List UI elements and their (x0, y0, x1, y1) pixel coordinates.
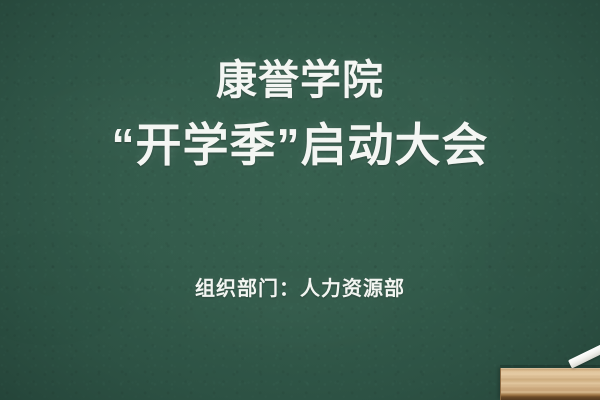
title-line-primary: 康誉学院 (0, 60, 600, 101)
presentation-slide: 康誉学院 “开学季”启动大会 组织部门：人力资源部 (0, 0, 600, 400)
title-line-secondary: “开学季”启动大会 (0, 122, 600, 168)
slide-subtitle-organizing-department: 组织部门：人力资源部 (0, 278, 600, 300)
chalk-ledge (500, 368, 600, 400)
chalk-ledge-wood (500, 368, 600, 400)
slide-title: 康誉学院 “开学季”启动大会 (0, 60, 600, 168)
chalk-ledge-wood-grain (501, 368, 600, 400)
slide-content: 康誉学院 “开学季”启动大会 组织部门：人力资源部 (0, 0, 600, 400)
